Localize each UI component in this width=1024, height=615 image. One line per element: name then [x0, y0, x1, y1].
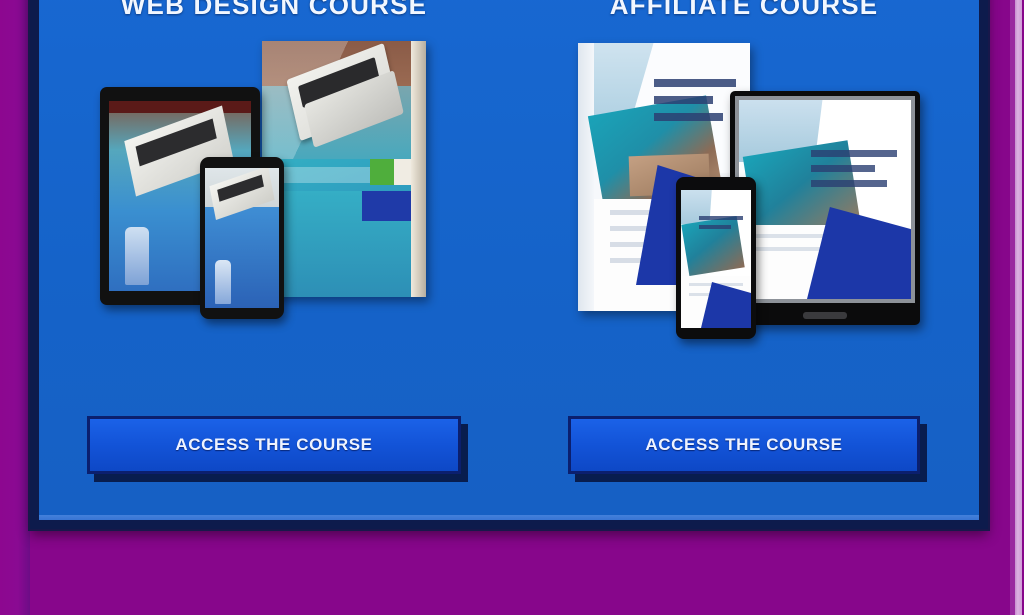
- cover-title-lines: [654, 79, 736, 130]
- web-design-phone-device: [200, 157, 284, 319]
- cta-row: ACCESS THE COURSE ACCESS THE COURSE: [39, 416, 979, 474]
- title-line: [811, 165, 875, 172]
- access-the-course-button-web-design[interactable]: ACCESS THE COURSE: [87, 416, 461, 474]
- access-the-course-label: ACCESS THE COURSE: [175, 435, 372, 455]
- tablet-screen-topbar: [109, 101, 251, 113]
- affiliate-phone-device: [676, 177, 756, 339]
- title-line: [654, 113, 723, 121]
- title-line: [811, 150, 897, 157]
- title-line: [699, 225, 731, 229]
- access-the-course-label: ACCESS THE COURSE: [645, 435, 842, 455]
- title-line: [699, 216, 743, 220]
- access-the-course-button-affiliate[interactable]: ACCESS THE COURSE: [568, 416, 920, 474]
- person-figure: [125, 227, 149, 285]
- cta-cell-web-design: ACCESS THE COURSE: [39, 416, 509, 474]
- course-title-web-design: WEB DESIGN COURSE: [121, 0, 427, 21]
- tablet-home-bar: [803, 312, 847, 319]
- tablet-screen: [739, 100, 911, 299]
- laptop-icon: [209, 168, 274, 220]
- person-figure: [215, 260, 231, 304]
- cover-blue-chip: [362, 191, 416, 221]
- cover-photo: [262, 41, 412, 159]
- affiliate-course-mockup: [564, 37, 924, 337]
- title-line: [654, 96, 713, 104]
- courses-panel-inner: WEB DESIGN COURSE: [39, 0, 979, 520]
- right-edge-light-strip: [1015, 0, 1022, 615]
- book-spine: [411, 41, 426, 297]
- web-design-ebook-cover: [262, 41, 426, 297]
- phone-screen: [205, 168, 279, 308]
- cta-cell-affiliate: ACCESS THE COURSE: [509, 416, 979, 474]
- course-title-affiliate: AFFILIATE COURSE: [610, 0, 879, 21]
- title-line: [654, 79, 736, 87]
- screen-title-lines: [811, 150, 897, 195]
- courses-panel: WEB DESIGN COURSE: [30, 0, 988, 529]
- book-edge: [578, 43, 594, 311]
- cover-green-chip: [370, 159, 396, 185]
- affiliate-tablet-device: [730, 91, 920, 325]
- screen-title-lines: [699, 216, 743, 234]
- title-line: [811, 180, 887, 187]
- tablet-frame: [735, 96, 915, 303]
- phone-screen: [681, 190, 751, 328]
- web-design-course-mockup: [94, 37, 454, 337]
- page-background: WEB DESIGN COURSE: [0, 0, 1024, 615]
